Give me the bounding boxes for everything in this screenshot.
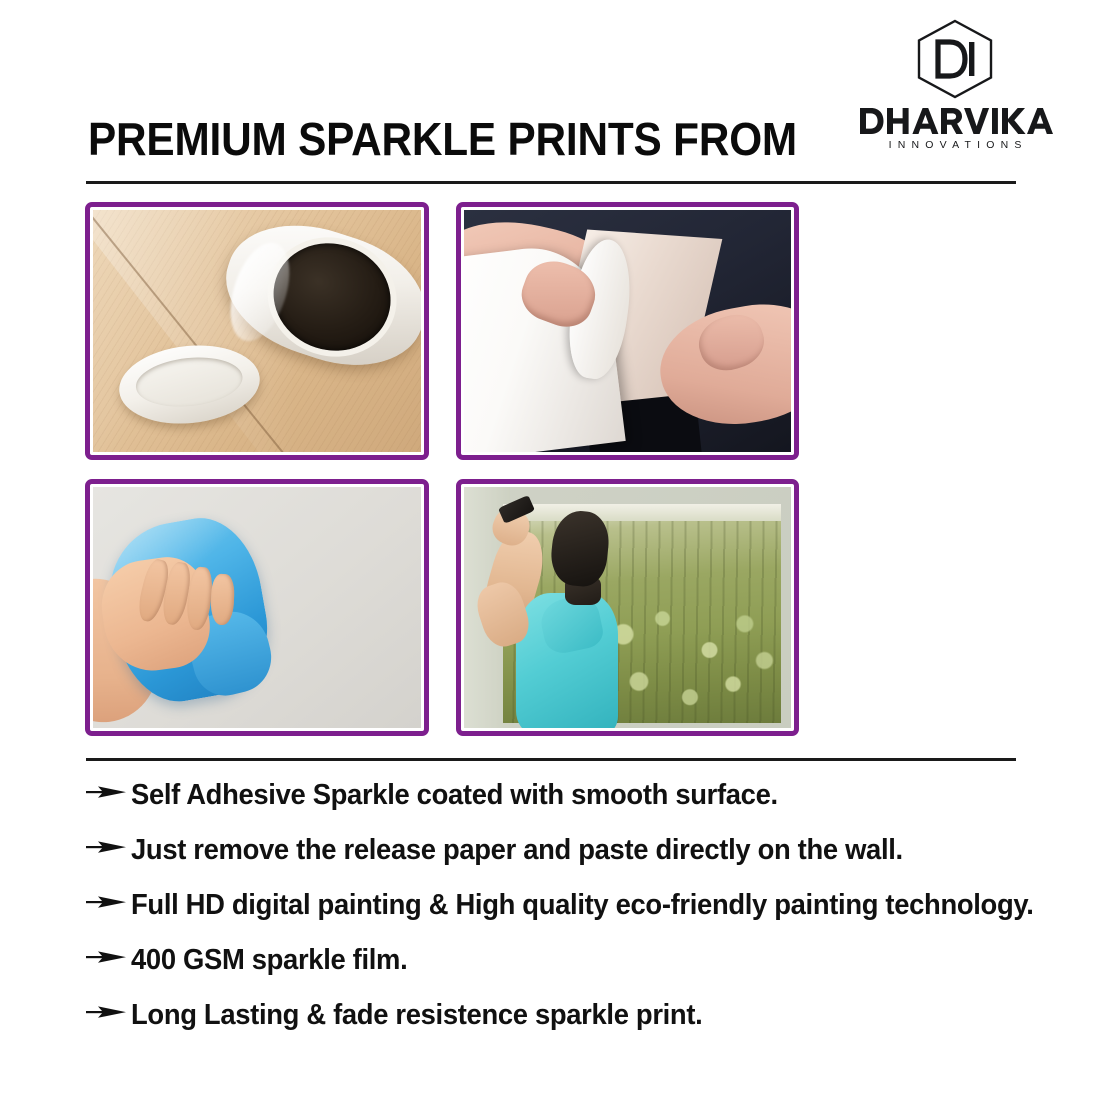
list-item: 400 GSM sparkle film.	[86, 943, 1056, 998]
arrow-right-icon	[86, 784, 126, 800]
page-title: PREMIUM SPARKLE PRINTS FROM	[88, 114, 797, 164]
arrow-right-icon	[86, 894, 126, 910]
list-item-label: Just remove the release paper and paste …	[131, 833, 903, 867]
list-item-label: 400 GSM sparkle film.	[131, 943, 407, 977]
mural-top-edge	[503, 504, 781, 521]
gallery	[85, 202, 799, 736]
arrow-right-icon	[86, 949, 126, 965]
photo-peel-release-paper	[464, 210, 791, 452]
list-item-label: Long Lasting & fade resistence sparkle p…	[131, 998, 702, 1032]
mural-foliage	[588, 595, 784, 725]
promo-page: INNOVATIONS PREMIUM SPARKLE PRINTS FROM	[0, 0, 1100, 1100]
photo-clean-wall	[93, 487, 421, 728]
gallery-item-mailing-tube	[85, 202, 429, 460]
feature-list: Self Adhesive Sparkle coated with smooth…	[86, 778, 1056, 1053]
gallery-item-clean-wall	[85, 479, 429, 736]
brand-wordmark	[858, 104, 1053, 138]
arrow-right-icon	[86, 839, 126, 855]
brand-logo: INNOVATIONS	[855, 18, 1055, 163]
list-item: Just remove the release paper and paste …	[86, 833, 1056, 888]
list-item-label: Full HD digital painting & High quality …	[131, 888, 1034, 922]
arrow-right-icon	[86, 1004, 126, 1020]
gallery-item-apply-mural	[456, 479, 799, 736]
gallery-item-peel-release-paper	[456, 202, 799, 460]
list-item-label: Self Adhesive Sparkle coated with smooth…	[131, 778, 778, 812]
list-item: Long Lasting & fade resistence sparkle p…	[86, 998, 1056, 1053]
hexagon-monogram-icon	[912, 18, 998, 100]
photo-mailing-tube	[93, 210, 421, 452]
divider-top	[86, 181, 1016, 184]
divider-bottom	[86, 758, 1016, 761]
list-item: Full HD digital painting & High quality …	[86, 888, 1056, 943]
list-item: Self Adhesive Sparkle coated with smooth…	[86, 778, 1056, 833]
brand-tagline: INNOVATIONS	[882, 139, 1027, 151]
photo-apply-mural	[464, 487, 791, 728]
